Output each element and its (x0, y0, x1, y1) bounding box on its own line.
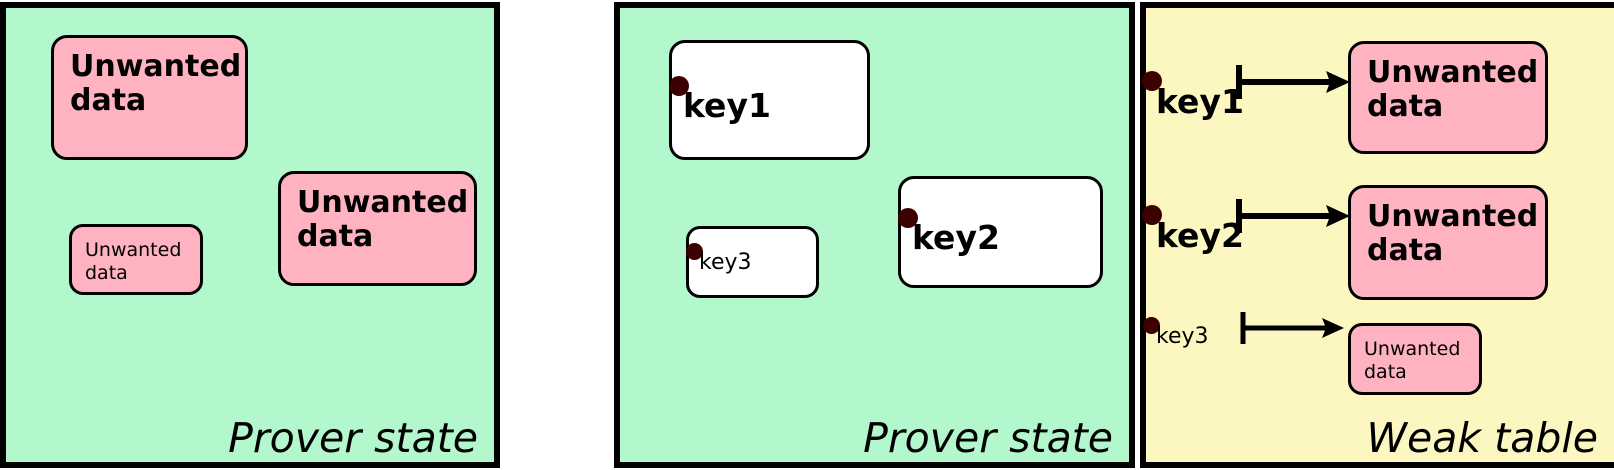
panel-weak-table: key1 Unwanted data key2 Unwanted data ke… (1140, 2, 1614, 468)
unwanted-data-box-small: Unwanted data (1348, 323, 1482, 395)
panel-prover-state-1: Unwanted data Unwanted data Unwanted dat… (0, 2, 500, 468)
unwanted-data-box: Unwanted data (1348, 41, 1548, 154)
panel-caption-weak-table: Weak table (1366, 417, 1598, 460)
unwanted-data-label: Unwanted data (70, 50, 241, 118)
unwanted-data-label: Unwanted data (1367, 56, 1538, 124)
unwanted-data-label: Unwanted data (297, 186, 468, 254)
panel-caption-prover-state: Prover state (863, 417, 1113, 460)
key-label-key3: key3 (699, 252, 752, 274)
unwanted-data-label: Unwanted data (1367, 200, 1538, 268)
panel-prover-state-2: key1 key2 key3 Prover state (614, 2, 1135, 468)
panel-caption-prover-state: Prover state (228, 417, 478, 460)
unwanted-data-box-small: Unwanted data (69, 224, 203, 295)
figure-root: Unwanted data Unwanted data Unwanted dat… (0, 0, 1614, 470)
key-label-key1: key1 (1156, 85, 1244, 118)
unwanted-data-box: Unwanted data (278, 171, 477, 286)
key-label-key3: key3 (1156, 326, 1209, 348)
maps-to-arrow-icon (1238, 308, 1346, 348)
unwanted-data-label: Unwanted data (1364, 338, 1460, 384)
key-label-key2: key2 (1156, 219, 1244, 252)
unwanted-data-box: Unwanted data (1348, 185, 1548, 300)
key-label-key1: key1 (683, 89, 771, 122)
unwanted-data-label: Unwanted data (85, 239, 181, 285)
unwanted-data-box: Unwanted data (51, 35, 248, 160)
key-label-key2: key2 (912, 221, 1000, 254)
maps-to-arrow-icon (1234, 194, 1352, 238)
maps-to-arrow-icon (1234, 60, 1352, 104)
